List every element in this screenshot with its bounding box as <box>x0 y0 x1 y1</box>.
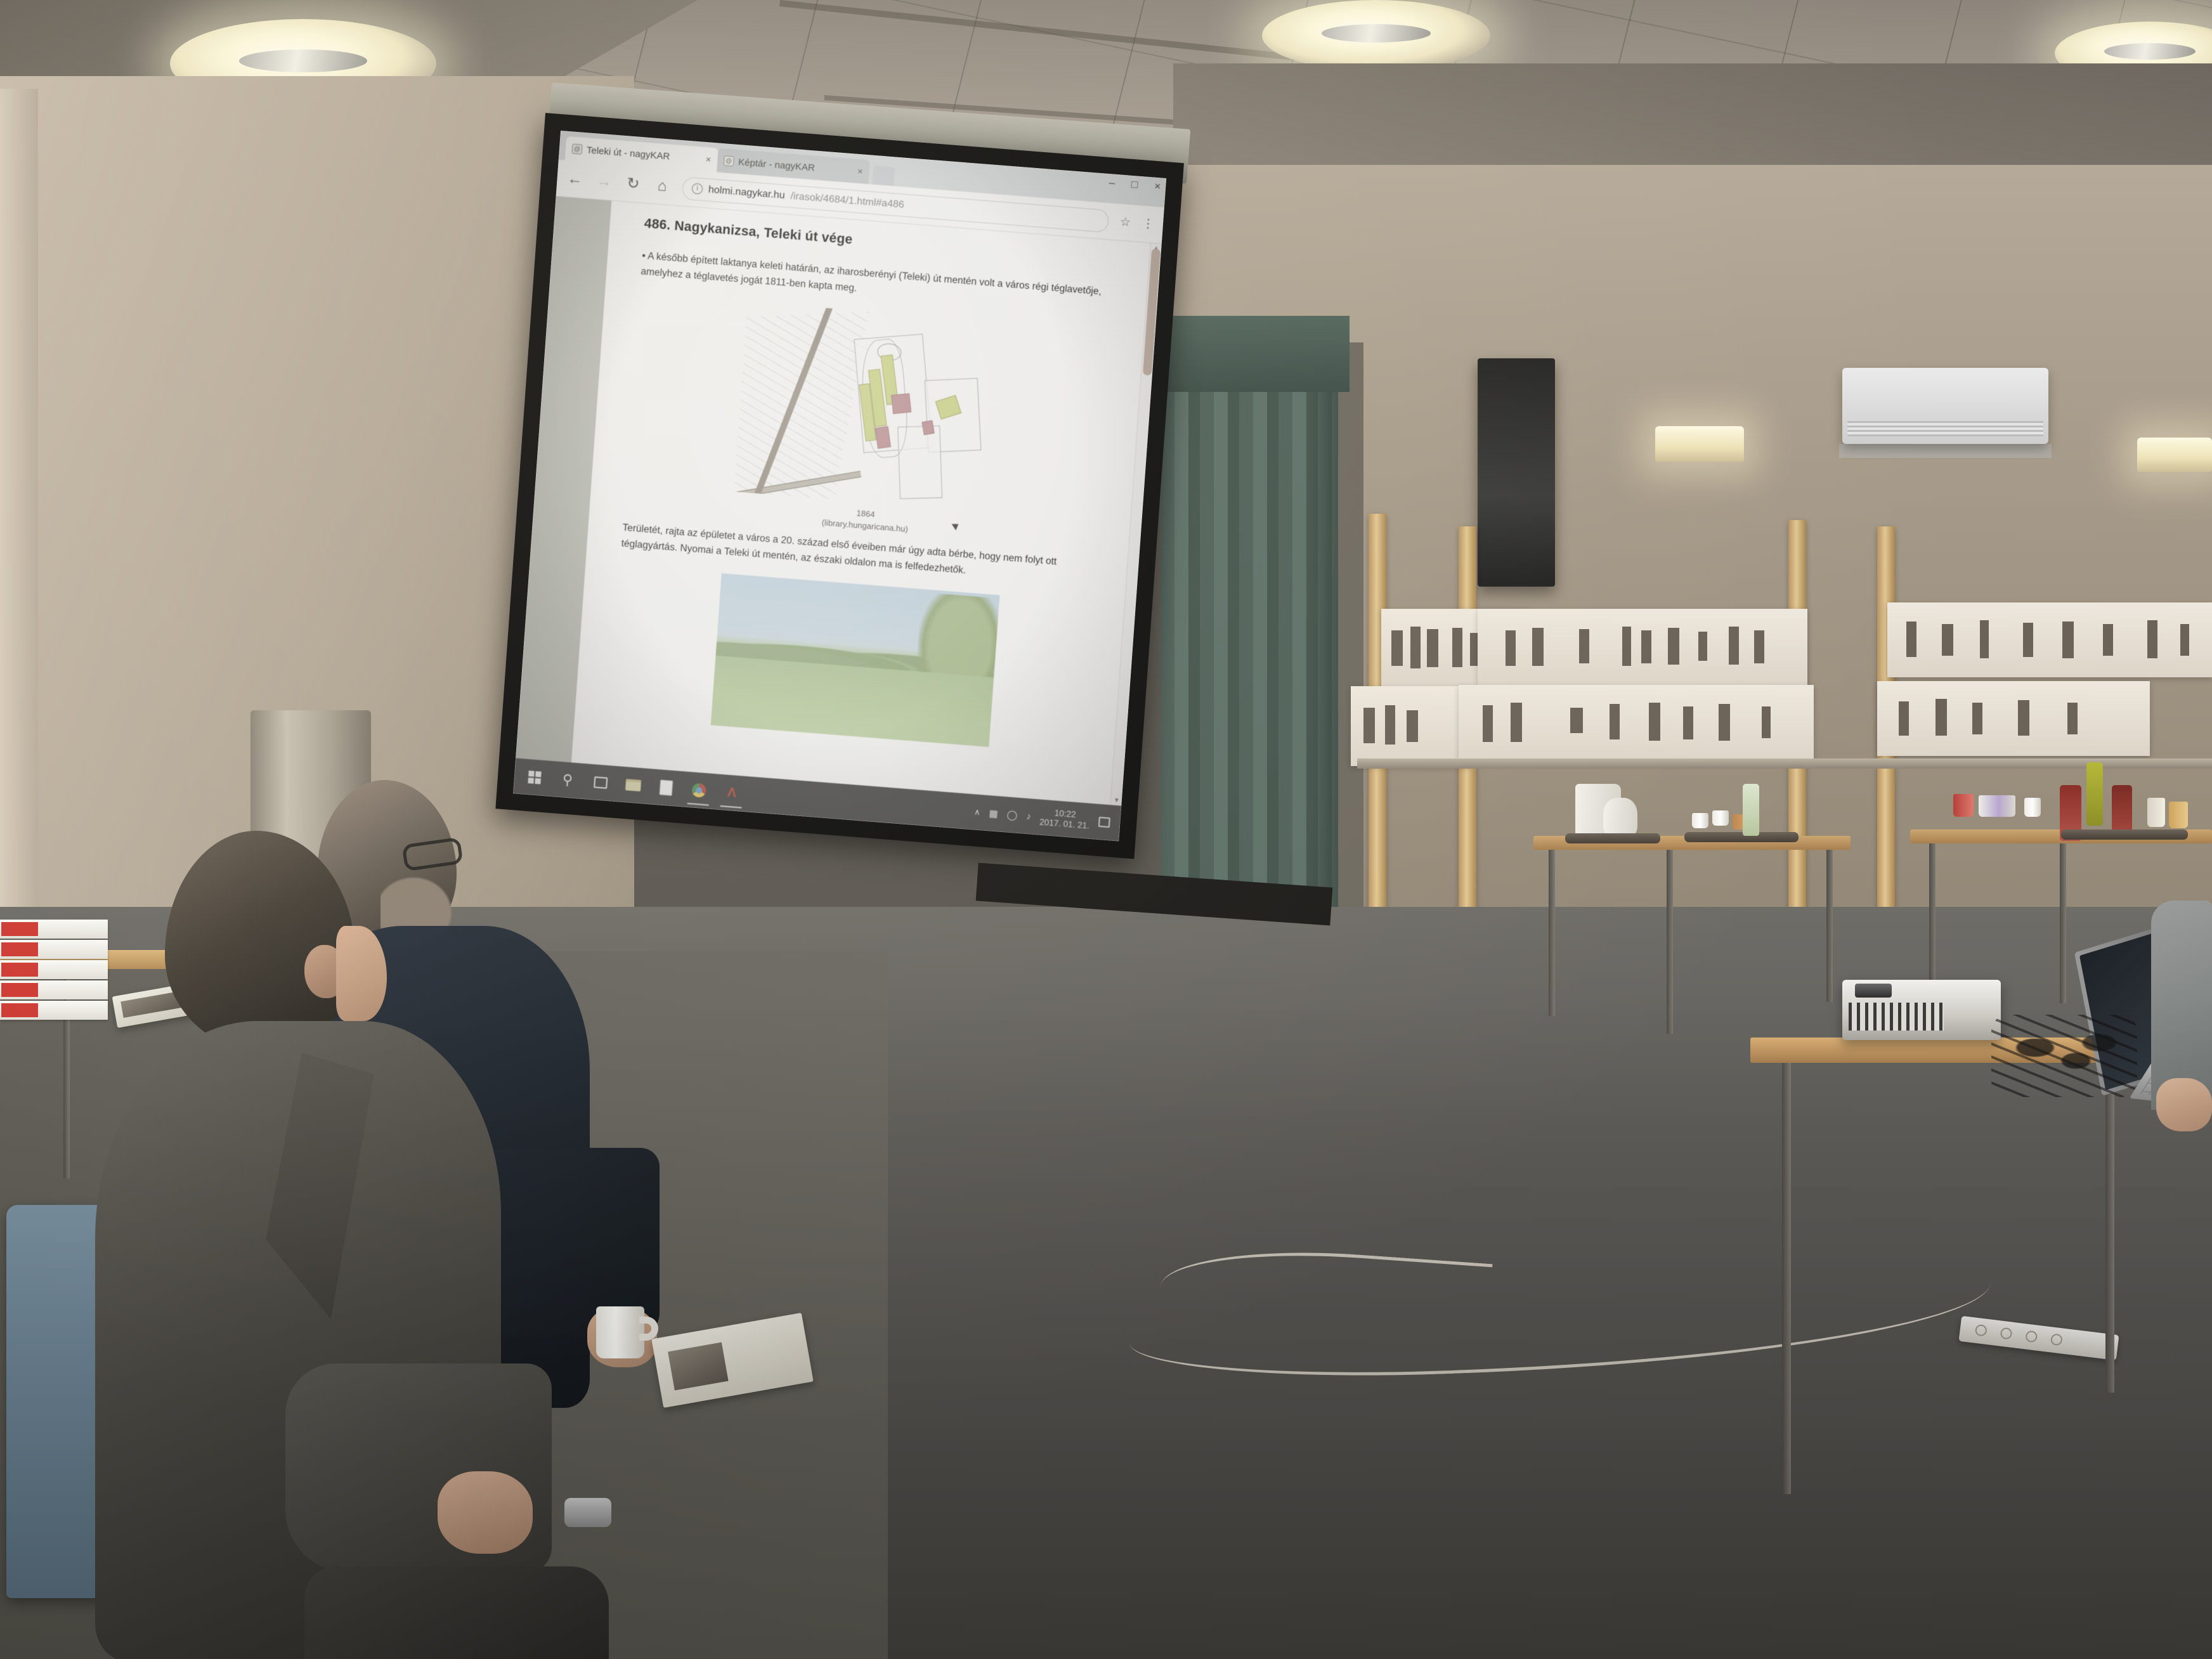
projector-vents-icon <box>1849 1003 1944 1031</box>
book-spine <box>1 942 38 956</box>
room-scene: @ Teleki út - nagyKAR × @ Képtár - nagyK… <box>0 0 2212 1659</box>
exhibit-photo <box>1719 704 1730 741</box>
new-tab-button[interactable] <box>872 166 895 186</box>
downlight-bulb-icon <box>2104 43 2196 60</box>
close-window-button[interactable]: × <box>1154 180 1161 193</box>
glass <box>2169 802 2188 828</box>
exhibit-photo <box>1483 705 1493 742</box>
person-in-grey-suit <box>95 831 666 1659</box>
exhibit-photo <box>1570 708 1583 733</box>
chrome-icon <box>691 783 706 798</box>
exhibit-photo <box>1532 628 1544 666</box>
serving-tray-right <box>2061 829 2188 840</box>
wall-speaker <box>1478 358 1555 587</box>
system-tray: ∧ ▦ ◯ ♪ 10:22 2017. 01. 21. <box>973 802 1117 833</box>
exhibit-photo <box>1579 629 1589 663</box>
cup <box>1712 810 1729 826</box>
presenter-hand <box>2156 1078 2212 1131</box>
cup <box>2024 798 2041 817</box>
window-controls: – □ × <box>1109 176 1161 193</box>
adobe-reader-icon: Λ <box>727 785 737 801</box>
figure-historic-map: 1864 (library.hungaricana.hu) <box>623 294 1121 552</box>
tab-title: Képtár - nagyKAR <box>738 157 854 176</box>
reload-icon[interactable]: ↻ <box>623 174 642 193</box>
exhibit-photo <box>1942 624 1953 656</box>
tab-close-icon[interactable]: × <box>857 166 863 177</box>
downlight-bulb-icon <box>239 49 367 72</box>
exhibit-board-row2-c <box>1877 681 2150 756</box>
tab-favicon-icon: @ <box>571 143 582 154</box>
exhibit-photo <box>1729 627 1739 665</box>
exhibit-photo <box>1762 706 1771 738</box>
site-info-icon[interactable]: i <box>691 183 703 195</box>
water-bottle <box>1743 784 1759 836</box>
person-face <box>336 926 387 1021</box>
exhibit-photo <box>2023 623 2033 657</box>
juice-bottle-green <box>2086 762 2103 826</box>
video-projector <box>1842 980 2001 1040</box>
removable-media-icon[interactable]: ▦ <box>989 807 998 819</box>
adobe-reader-taskbar-button[interactable]: Λ <box>714 774 750 812</box>
exhibit-board-row1-b <box>1478 609 1807 686</box>
exhibit-photo <box>1391 630 1403 666</box>
book <box>0 940 108 959</box>
exhibit-photo <box>2147 620 2157 658</box>
exhibit-photo <box>1972 703 1982 734</box>
bookmark-star-icon[interactable]: ☆ <box>1119 215 1131 230</box>
browser-viewport: 486. Nagykanizsa, Teleki út vége ▪ A kés… <box>516 197 1162 806</box>
exhibit-board-row2-a <box>1351 686 1471 766</box>
bullet-marker: ▪ <box>642 250 646 261</box>
exhibit-photo <box>1899 701 1909 736</box>
exhibit-photo <box>1511 703 1522 742</box>
exhibit-photo <box>1935 699 1947 736</box>
scroll-down-arrow-icon[interactable]: ▼ <box>1113 797 1120 805</box>
wall-ledge <box>1357 758 2212 769</box>
exhibit-photo <box>1407 710 1418 742</box>
tab-favicon-icon: @ <box>724 155 734 166</box>
exhibit-photo <box>2018 700 2029 736</box>
exhibit-photo <box>1610 704 1620 739</box>
exhibit-photo <box>1427 629 1438 667</box>
exhibit-photo <box>2103 624 2113 656</box>
ac-bracket <box>1839 444 2052 458</box>
chrome-menu-icon[interactable]: ⋮ <box>1142 216 1155 231</box>
clock-date: 2017. 01. 21. <box>1039 817 1090 831</box>
left-wall-edge <box>0 89 38 964</box>
forward-icon[interactable]: → <box>595 172 614 191</box>
home-icon[interactable]: ⌂ <box>653 176 672 195</box>
book <box>0 980 108 999</box>
book-spine <box>1 983 38 997</box>
exhibit-photo <box>1649 703 1660 741</box>
person-hand <box>438 1471 533 1554</box>
exhibit-photo <box>1452 628 1462 667</box>
browser-window[interactable]: @ Teleki út - nagyKAR × @ Képtár - nagyK… <box>513 131 1166 841</box>
map-building-red <box>921 420 934 435</box>
exhibit-photo <box>1385 705 1395 745</box>
cable-tangle <box>1991 1015 2137 1097</box>
url-path: /irasok/4684/1.html#a486 <box>790 190 904 211</box>
table-leg <box>1782 1063 1791 1494</box>
book-spine <box>1 1003 38 1017</box>
taskbar-clock[interactable]: 10:22 2017. 01. 21. <box>1039 807 1091 831</box>
exhibit-photo <box>1906 621 1916 657</box>
map-building-red <box>892 393 912 414</box>
book-spine <box>1 922 38 936</box>
book-spine <box>1 963 38 977</box>
wall-sconce-right <box>2137 438 2212 472</box>
exhibit-photo <box>2062 621 2074 658</box>
table-leg <box>1826 850 1833 1002</box>
wall-sconce-left <box>1655 426 1744 462</box>
glass <box>2147 798 2165 827</box>
decorated-cup <box>1979 795 2015 817</box>
exhibit-photo <box>1754 630 1764 663</box>
ac-vents-icon <box>1847 421 2043 436</box>
maximize-button[interactable]: □ <box>1131 178 1138 192</box>
air-conditioner-unit <box>1842 368 2048 444</box>
table-leg <box>2105 1063 2114 1393</box>
exhibit-photo <box>1683 706 1693 739</box>
tray-chevron-icon[interactable]: ∧ <box>974 807 981 817</box>
person-leg <box>304 1566 609 1659</box>
programme-photo <box>668 1343 728 1391</box>
book <box>0 960 108 979</box>
exhibit-board-row1-c <box>1887 602 2212 677</box>
left-catering-table <box>1533 836 1851 1039</box>
table-leg <box>1929 843 1935 989</box>
exhibit-photo <box>1363 708 1375 743</box>
minimize-button[interactable]: – <box>1109 176 1116 190</box>
exhibit-photo <box>1410 627 1421 668</box>
serving-tray-left <box>1565 833 1660 843</box>
exhibit-photo <box>2180 624 2189 656</box>
serving-tray-center <box>1684 832 1799 842</box>
url-host: holmi.nagykar.hu <box>708 184 785 201</box>
tab-title: Teleki út - nagyKAR <box>586 145 701 164</box>
table-leg <box>2060 843 2066 1003</box>
person-head <box>165 831 355 1053</box>
chrome-taskbar-button[interactable] <box>681 771 717 809</box>
water-jug <box>1603 798 1637 838</box>
exhibit-board-row2-b <box>1459 685 1814 762</box>
meadow-photo-image <box>711 573 1000 747</box>
screen-frame: @ Teleki út - nagyKAR × @ Képtár - nagyK… <box>495 113 1184 859</box>
book <box>0 920 108 939</box>
exhibit-photo <box>1622 627 1631 666</box>
cup <box>1692 813 1708 828</box>
tab-close-icon[interactable]: × <box>705 154 712 166</box>
book <box>0 1001 108 1020</box>
figure-present-day-photo <box>609 566 1102 758</box>
volume-icon[interactable]: ♪ <box>1026 810 1032 822</box>
exhibit-photo <box>1668 628 1679 665</box>
exhibit-photo <box>1980 620 1989 658</box>
exhibit-photo <box>1641 630 1651 663</box>
action-center-icon[interactable] <box>1098 817 1110 828</box>
toolbar-right-group: ☆ ⋮ <box>1119 215 1155 232</box>
back-icon[interactable]: ← <box>566 169 585 188</box>
projector-lens-icon <box>1855 984 1892 998</box>
exhibit-photo <box>2067 703 2078 734</box>
web-page: 486. Nagykanizsa, Teleki út vége ▪ A kés… <box>571 201 1162 806</box>
table-leg <box>1667 850 1673 1034</box>
operator-table <box>1750 1038 2212 1494</box>
table-leg <box>1549 850 1555 1016</box>
ceiling-downlight-2 <box>1262 0 1490 71</box>
network-icon[interactable]: ◯ <box>1006 809 1018 821</box>
projection-surface: @ Teleki út - nagyKAR × @ Képtár - nagyK… <box>513 131 1166 841</box>
exhibit-photo <box>1698 632 1707 661</box>
historic-cadastral-map-image <box>734 302 1013 512</box>
tin-can <box>1953 794 1974 817</box>
downlight-bulb-icon <box>1322 24 1431 42</box>
exhibit-photo <box>1506 630 1516 666</box>
book-stack <box>0 920 108 1021</box>
